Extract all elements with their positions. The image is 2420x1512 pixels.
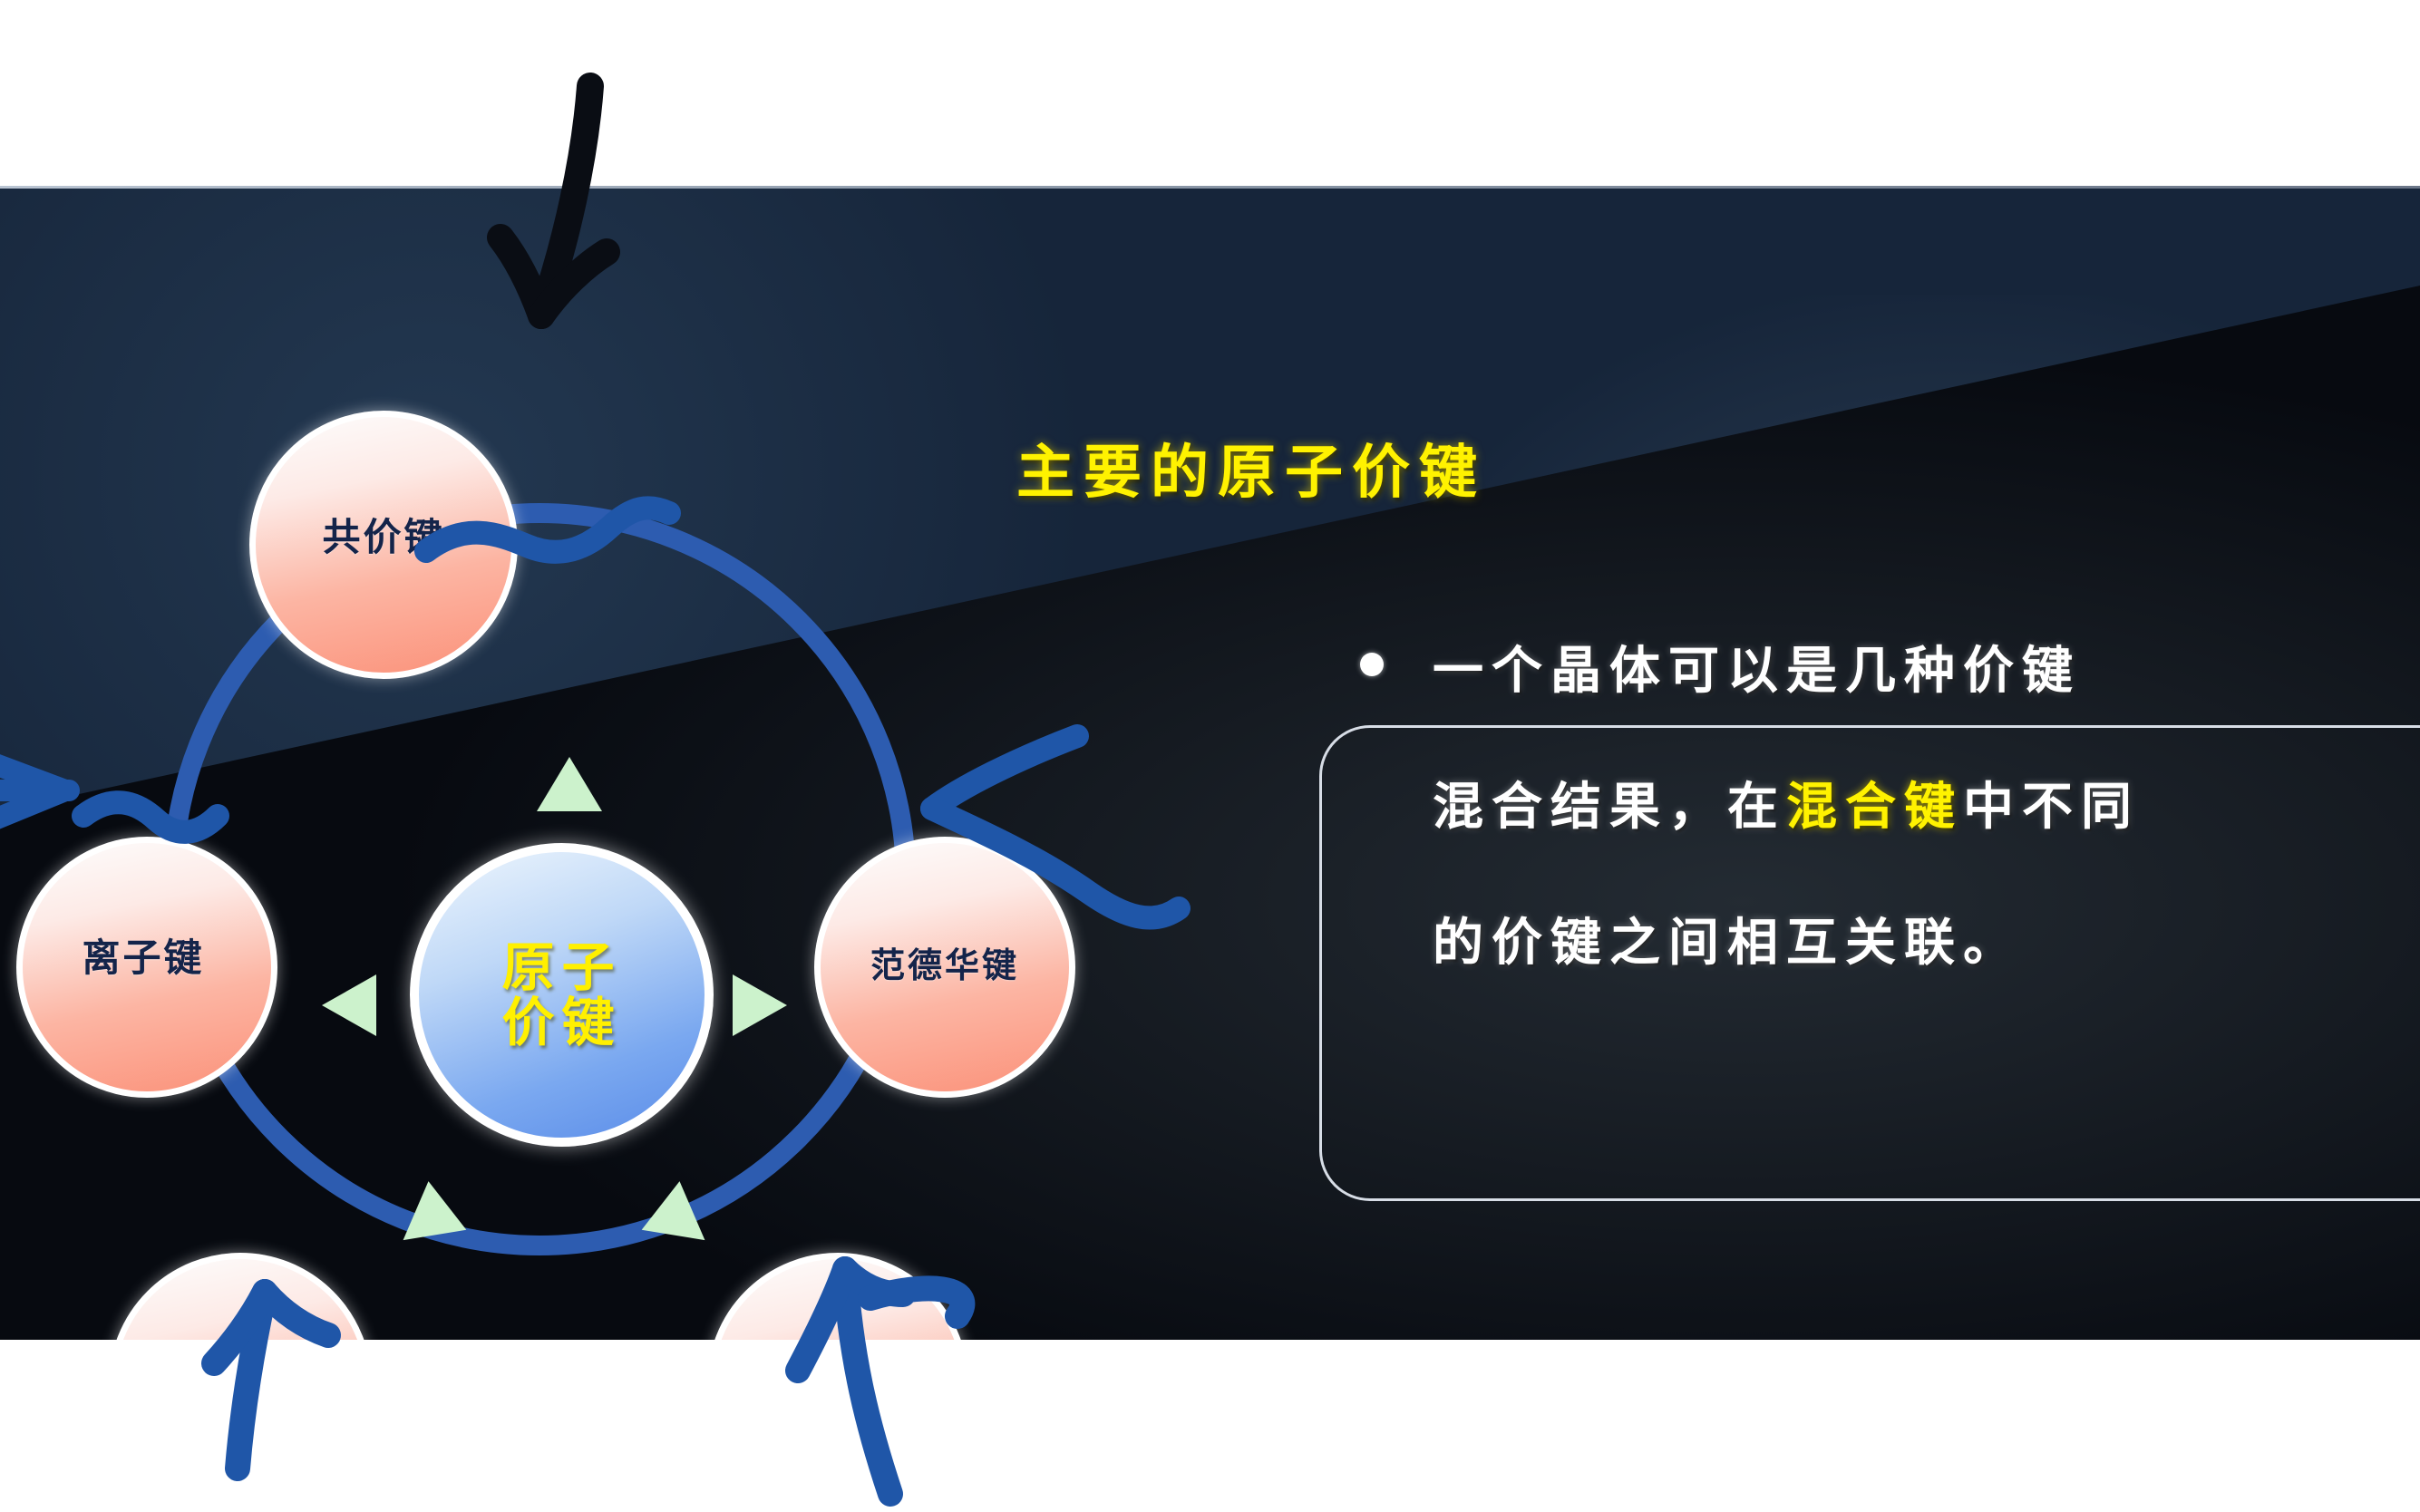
node-covalent-label: 共价键 — [322, 507, 444, 562]
triangle-right-icon — [733, 974, 787, 1036]
atomic-bond-diagram: 共价键 离子键 范德华键 金属键 π 键 原子 价键 — [0, 186, 1088, 1340]
slide-top-edge — [0, 186, 2420, 189]
bullet-point-icon — [1360, 653, 1384, 676]
panel-line-2-post: 中不同 — [1963, 778, 2140, 837]
screenshot-root: 主要的原子价键 共价键 离子键 范德华键 金属键 π — [0, 0, 2420, 1512]
node-metallic-bond[interactable]: 金属键 — [109, 1253, 372, 1340]
node-covalent-bond[interactable]: 共价键 — [249, 411, 518, 679]
panel-line-2-pre: 混合结果，在 — [1433, 778, 1786, 837]
node-center-atomic-bond[interactable]: 原子 价键 — [410, 843, 714, 1147]
center-label-line1: 原子 — [501, 940, 621, 995]
panel-line-2: 混合结果，在混合键中不同 — [1433, 766, 2420, 839]
panel-line-1: 一个晶体可以是几种价键 — [1433, 630, 2420, 703]
triangle-left-icon — [322, 974, 376, 1036]
node-ionic-label: 离子键 — [82, 927, 204, 983]
node-ionic-bond[interactable]: 离子键 — [16, 837, 277, 1098]
node-pi-bond[interactable]: π 键 — [707, 1253, 968, 1340]
node-vdw-label: 范德华键 — [870, 937, 1019, 987]
info-panel-text: 一个晶体可以是几种价键 混合结果，在混合键中不同 的价键之间相互关联。 — [1360, 580, 2420, 988]
node-van-der-waals-bond[interactable]: 范德华键 — [814, 837, 1075, 1098]
panel-line-3: 的价键之间相互关联。 — [1433, 902, 2420, 975]
panel-line-2-highlight: 混合键 — [1786, 778, 1963, 837]
center-label-line2: 价键 — [501, 995, 621, 1051]
slide-title: 主要的原子价键 — [880, 426, 1623, 509]
triangle-up-icon — [537, 757, 602, 811]
